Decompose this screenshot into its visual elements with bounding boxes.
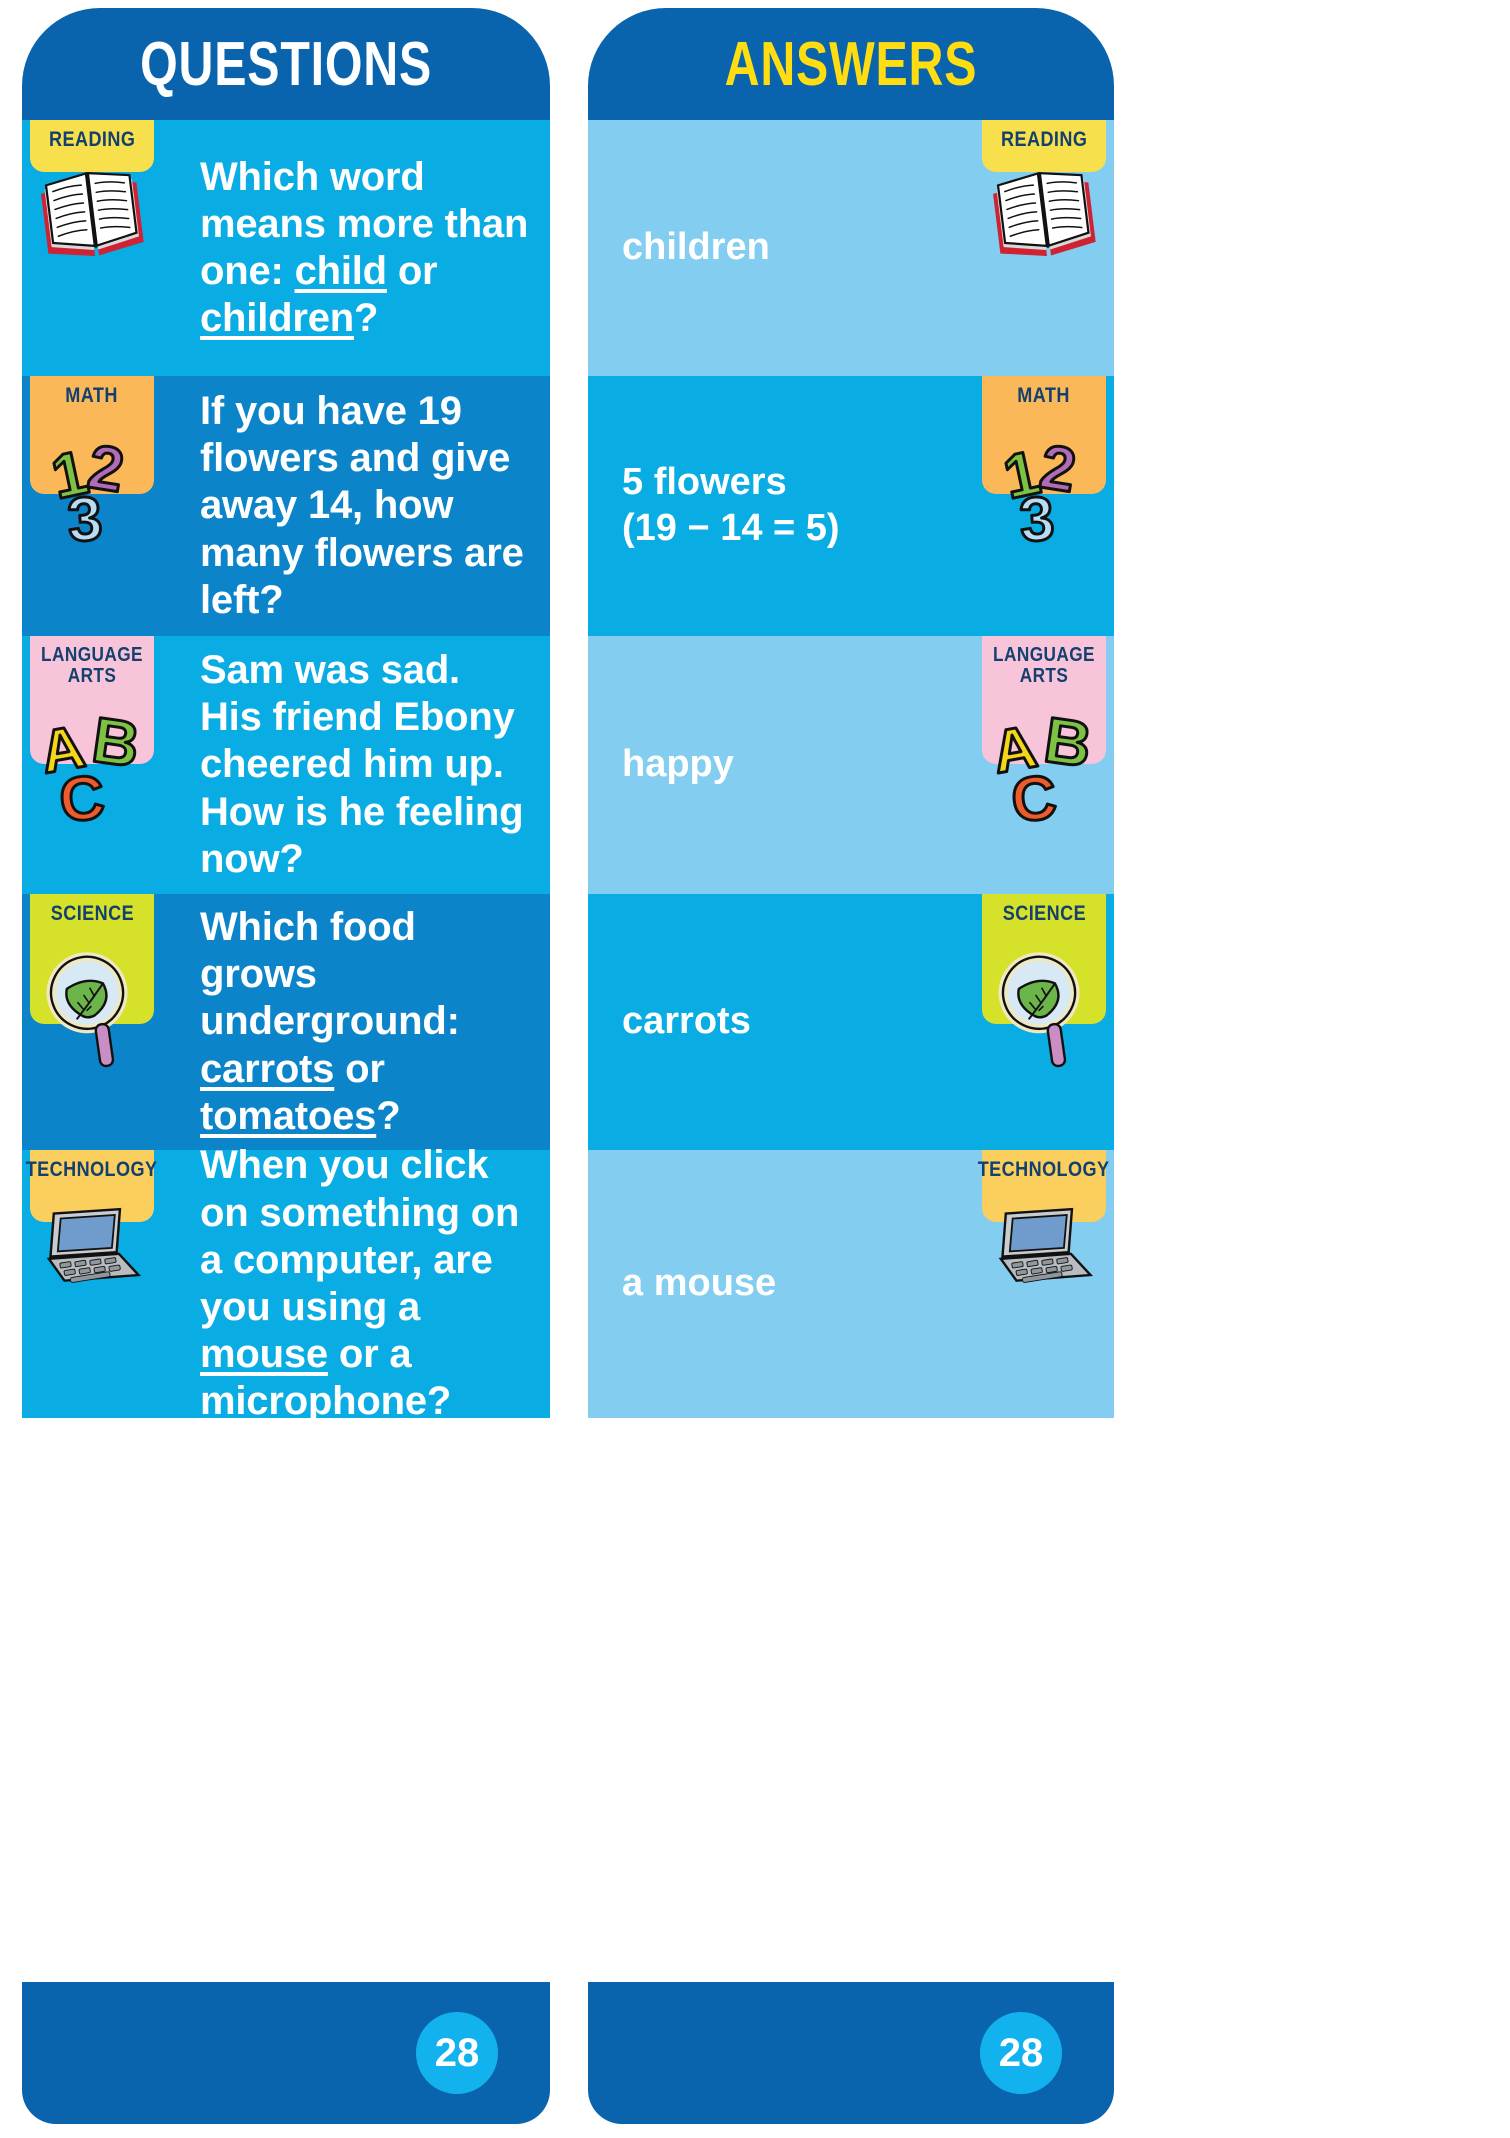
page-number-answers: 28 [980, 2012, 1062, 2094]
answers-rows: READING [588, 120, 1114, 1982]
numbers-123-icon: 1 2 3 [982, 412, 1106, 552]
laptop-icon [30, 1190, 154, 1310]
q4-part-3: tomatoes [200, 1094, 376, 1138]
tab-label-technology: TECHNOLOGY [26, 1159, 158, 1181]
magnifying-glass-leaf-icon [30, 938, 154, 1078]
question-text-reading: Which word means more than one: child or… [200, 154, 550, 343]
q4-part-0: Which food grows underground: [200, 905, 460, 1043]
answer-row-reading[interactable]: READING [588, 120, 1114, 376]
subject-tab-technology-answer: TECHNOLOGY [982, 1150, 1106, 1418]
question-row-technology[interactable]: TECHNOLOGY [22, 1150, 550, 1418]
q5-part-0: When you click on something on a compute… [200, 1143, 519, 1329]
svg-text:3: 3 [65, 484, 104, 552]
q4-part-2: or [334, 1047, 385, 1091]
flashcard-page: QUESTIONS READING [0, 0, 1510, 2138]
svg-text:A: A [35, 713, 89, 787]
subject-tab-science: SCIENCE [30, 894, 154, 1150]
open-book-icon [982, 160, 1106, 270]
answers-title: ANSWERS [725, 29, 978, 100]
subject-tab-reading: READING [30, 120, 154, 376]
svg-text:3: 3 [1017, 484, 1056, 552]
answer-text-language-arts: happy [622, 742, 884, 788]
numbers-123-icon: 1 2 3 [30, 412, 154, 552]
answer-row-math[interactable]: MATH 1 2 3 5 flowers (19 − 14 = 5) [588, 376, 1114, 636]
answer-row-technology[interactable]: TECHNOLOGY [588, 1150, 1114, 1418]
answers-footer: 28 [588, 1982, 1114, 2124]
q4-part-1: carrots [200, 1047, 334, 1091]
tab-label-math-answer: MATH [1018, 385, 1071, 407]
questions-card: QUESTIONS READING [22, 8, 550, 2124]
answer-text-technology: a mouse [622, 1261, 926, 1307]
q1-part-2: or [387, 249, 438, 293]
letters-abc-icon: A B C [30, 708, 154, 838]
svg-text:C: C [1009, 763, 1060, 836]
q5-part-4: ? [427, 1379, 451, 1423]
svg-text:C: C [57, 763, 108, 836]
answer-text-math: 5 flowers (19 − 14 = 5) [622, 460, 990, 551]
question-text-language-arts: Sam was sad. His friend Ebony cheered hi… [200, 647, 550, 883]
questions-header: QUESTIONS [22, 8, 550, 120]
tab-label-reading-answer: READING [1001, 129, 1087, 151]
tab-body-language-arts: LANGUAGE ARTS [30, 636, 154, 764]
questions-rows: READING [22, 120, 550, 1982]
q1-part-4: ? [354, 296, 378, 340]
magnifying-glass-leaf-icon [982, 938, 1106, 1078]
subject-tab-language-arts-answer: LANGUAGE ARTS A B C [982, 636, 1106, 894]
tab-label-language-arts: LANGUAGE ARTS [39, 645, 146, 687]
subject-tab-technology: TECHNOLOGY [30, 1150, 154, 1418]
answer-text-reading: children [622, 225, 920, 271]
subject-tab-language-arts: LANGUAGE ARTS A B C [30, 636, 154, 894]
svg-text:1: 1 [998, 438, 1046, 513]
question-row-math[interactable]: MATH 1 2 3 If you have 19 flo [22, 376, 550, 636]
question-row-reading[interactable]: READING [22, 120, 550, 376]
tab-body-technology: TECHNOLOGY [30, 1150, 154, 1222]
tab-body-science-answer: SCIENCE [982, 894, 1106, 1024]
question-row-language-arts[interactable]: LANGUAGE ARTS A B C Sam was sad. His fri… [22, 636, 550, 894]
answer-text-science: carrots [622, 999, 901, 1045]
tab-label-science-answer: SCIENCE [1002, 903, 1085, 925]
tab-body-science: SCIENCE [30, 894, 154, 1024]
answer-row-language-arts[interactable]: LANGUAGE ARTS A B C happy [588, 636, 1114, 894]
answers-header: ANSWERS [588, 8, 1114, 120]
svg-text:B: B [88, 708, 144, 781]
tab-body-language-arts-answer: LANGUAGE ARTS [982, 636, 1106, 764]
question-text-science: Which food grows underground: carrots or… [200, 904, 550, 1140]
q4-part-4: ? [376, 1094, 400, 1138]
open-book-icon [30, 160, 154, 270]
q1-part-1: child [295, 249, 387, 293]
q5-part-2: or a [328, 1332, 411, 1376]
answer-row-science[interactable]: SCIENCE [588, 894, 1114, 1150]
questions-title: QUESTIONS [140, 29, 432, 100]
q5-part-1: mouse [200, 1332, 328, 1376]
page-number-questions: 28 [416, 2012, 498, 2094]
q5-part-3: microphone [200, 1379, 427, 1423]
tab-label-math: MATH [66, 385, 119, 407]
letters-abc-icon: A B C [982, 708, 1106, 838]
question-text-math: If you have 19 flowers and give away 14,… [200, 388, 550, 624]
subject-tab-math: MATH 1 2 3 [30, 376, 154, 636]
svg-text:A: A [987, 713, 1041, 787]
subject-tab-math-answer: MATH 1 2 3 [982, 376, 1106, 636]
questions-footer: 28 [22, 1982, 550, 2124]
tab-body-math: MATH [30, 376, 154, 494]
q1-part-3: children [200, 296, 354, 340]
tab-label-technology-answer: TECHNOLOGY [978, 1159, 1110, 1181]
laptop-icon [982, 1190, 1106, 1310]
svg-text:1: 1 [46, 438, 94, 513]
tab-body-math-answer: MATH [982, 376, 1106, 494]
question-text-technology: When you click on something on a compute… [200, 1142, 550, 1425]
svg-text:2: 2 [84, 432, 129, 506]
svg-text:B: B [1040, 708, 1096, 781]
tab-label-language-arts-answer: LANGUAGE ARTS [991, 645, 1098, 687]
tab-body-reading: READING [30, 120, 154, 172]
svg-text:2: 2 [1036, 432, 1081, 506]
subject-tab-science-answer: SCIENCE [982, 894, 1106, 1150]
question-row-science[interactable]: SCIENCE [22, 894, 550, 1150]
tab-body-technology-answer: TECHNOLOGY [982, 1150, 1106, 1222]
tab-label-reading: READING [49, 129, 135, 151]
tab-body-reading-answer: READING [982, 120, 1106, 172]
subject-tab-reading-answer: READING [982, 120, 1106, 376]
tab-label-science: SCIENCE [50, 903, 133, 925]
answers-card: ANSWERS READING [588, 8, 1114, 2124]
